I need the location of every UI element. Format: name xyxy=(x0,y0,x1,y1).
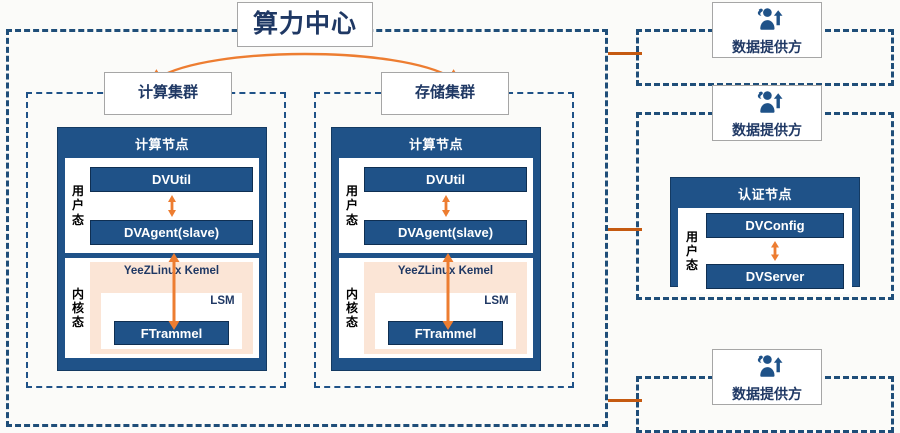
storage-cluster-label-text: 存储集群 xyxy=(415,85,475,102)
storage-node-title: 计算节点 xyxy=(339,134,533,153)
storage-node-usermode-kernel-arrow xyxy=(441,253,455,330)
lsm-caption: LSM xyxy=(210,295,234,307)
user-mode-char-2: 户 xyxy=(686,244,698,258)
dvserver-component: DVServer xyxy=(706,264,844,289)
user-mode-tag: 用 户 态 xyxy=(65,158,88,253)
data-provider-upload-icon xyxy=(750,353,784,383)
kernel-mode-char-3: 态 xyxy=(72,315,84,329)
data-provider-top-label: 数据提供方 xyxy=(732,37,802,57)
dvagent-component: DVAgent(slave) xyxy=(90,220,253,245)
storage-cluster-node: 计算节点 用 户 态 DVUtil DVAgent(slave) xyxy=(331,127,541,371)
data-provider-middle-label: 数据提供方 xyxy=(732,120,802,140)
auth-node-title: 认证节点 xyxy=(678,184,852,203)
compute-node-user-mode-layer: 用 户 态 DVUtil DVAgent(slave) xyxy=(65,158,259,253)
auth-node-user-mode-layer: 用 户 态 DVConfig DVServer xyxy=(678,208,852,294)
lsm-caption: LSM xyxy=(484,295,508,307)
data-provider-bottom-label: 数据提供方 xyxy=(732,384,802,404)
kernel-mode-char-2: 核 xyxy=(346,301,358,315)
auth-node: 认证节点 用 户 态 DVConfig DVServer xyxy=(670,177,860,287)
dvutil-component: DVUtil xyxy=(90,167,253,192)
user-mode-char-3: 态 xyxy=(72,213,84,227)
compute-cluster-label: 计算集群 xyxy=(104,72,232,115)
kernel-mode-char-2: 核 xyxy=(72,301,84,315)
compute-cluster-node: 计算节点 用 户 态 DVUtil DVAgent(slave) xyxy=(57,127,267,371)
compute-cluster-label-text: 计算集群 xyxy=(138,85,198,102)
dvconfig-dvserver-arrow xyxy=(769,240,781,262)
architecture-diagram: 算力中心 计算集群 计算节点 用 户 态 xyxy=(0,0,900,433)
dvconfig-component: DVConfig xyxy=(706,213,844,238)
dvutil-dvagent-arrow xyxy=(166,194,178,218)
compute-node-title: 计算节点 xyxy=(65,134,259,153)
kernel-mode-char-3: 态 xyxy=(346,315,358,329)
user-mode-tag: 用 户 态 xyxy=(678,208,703,294)
connector-bottom xyxy=(608,399,642,402)
kernel-mode-tag: 内 核 态 xyxy=(65,258,88,358)
compute-node-usermode-kernel-arrow xyxy=(167,253,181,330)
storage-node-kernel-mode-layer: 内 核 态 YeeZLinux Kemel LSM FTrammel xyxy=(339,258,533,358)
data-provider-upload-icon xyxy=(750,89,784,119)
data-provider-top: 数据提供方 xyxy=(712,2,822,58)
user-mode-char-1: 用 xyxy=(346,184,358,198)
connector-top xyxy=(608,52,642,55)
dvutil-dvagent-arrow xyxy=(440,194,452,218)
kernel-mode-tag: 内 核 态 xyxy=(339,258,362,358)
user-mode-char-3: 态 xyxy=(686,258,698,272)
dvutil-component: DVUtil xyxy=(364,167,527,192)
user-mode-char-1: 用 xyxy=(72,184,84,198)
user-mode-char-1: 用 xyxy=(686,230,698,244)
data-provider-bottom: 数据提供方 xyxy=(712,349,822,405)
kernel-mode-char-1: 内 xyxy=(346,287,358,301)
connector-middle xyxy=(608,228,642,231)
data-provider-upload-icon xyxy=(750,6,784,36)
user-mode-tag: 用 户 态 xyxy=(339,158,362,253)
user-mode-char-3: 态 xyxy=(346,213,358,227)
storage-node-user-mode-layer: 用 户 态 DVUtil DVAgent(slave) xyxy=(339,158,533,253)
storage-cluster-label: 存储集群 xyxy=(381,72,509,115)
compute-node-kernel-mode-layer: 内 核 态 YeeZLinux Kemel LSM FTrammel xyxy=(65,258,259,358)
data-provider-middle: 数据提供方 xyxy=(712,85,822,141)
user-mode-char-2: 户 xyxy=(346,198,358,212)
kernel-mode-char-1: 内 xyxy=(72,287,84,301)
page-title-text: 算力中心 xyxy=(253,11,357,39)
user-mode-char-2: 户 xyxy=(72,198,84,212)
dvagent-component: DVAgent(slave) xyxy=(364,220,527,245)
